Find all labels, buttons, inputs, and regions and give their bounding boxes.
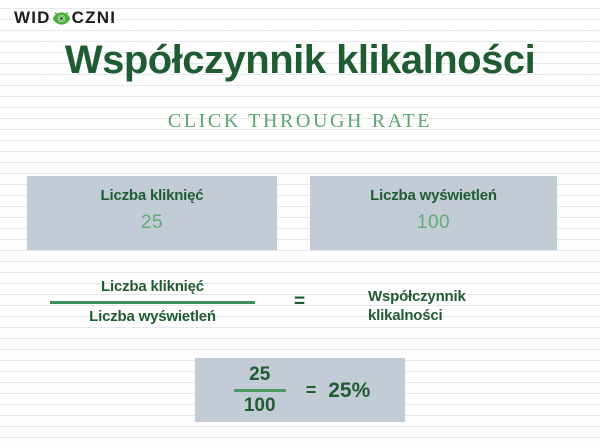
- formula-equals-sign: =: [294, 292, 305, 311]
- metric-label-clicks: Liczba kliknięć: [27, 187, 277, 205]
- formula-result-line2: klikalności: [368, 307, 548, 326]
- formula-fraction-bar: [50, 301, 255, 304]
- logo-text-before: WID: [14, 9, 51, 26]
- formula-denominator: Liczba wyświetleń: [50, 308, 255, 327]
- result-equals-sign: =: [306, 381, 317, 399]
- formula-result-line1: Współczynnik: [368, 288, 548, 307]
- page-subtitle: CLICK THROUGH RATE: [0, 110, 600, 132]
- metric-value-views: 100: [310, 212, 557, 235]
- formula-numerator: Liczba kliknięć: [50, 278, 255, 297]
- page-title: Współczynnik klikalności: [0, 38, 600, 82]
- metric-label-views: Liczba wyświetleń: [310, 187, 557, 205]
- brand-logo: WID CZNI: [14, 6, 116, 28]
- result-box: 25 100 = 25%: [195, 358, 405, 422]
- metric-box-clicks: Liczba kliknięć 25: [27, 176, 277, 250]
- formula-result-label: Współczynnik klikalności: [368, 288, 548, 326]
- formula-fraction: Liczba kliknięć Liczba wyświetleń: [50, 278, 255, 327]
- metric-value-clicks: 25: [27, 212, 277, 235]
- result-fraction: 25 100: [230, 364, 290, 417]
- infographic-canvas: WID CZNI Współczynnik klikalności CLICK …: [0, 0, 600, 448]
- result-fraction-bar: [234, 389, 286, 392]
- result-numerator: 25: [230, 364, 290, 386]
- green-eye-icon: [52, 9, 71, 28]
- result-percentage-value: 25%: [328, 380, 370, 401]
- result-denominator: 100: [230, 395, 290, 417]
- logo-text-after: CZNI: [72, 9, 116, 26]
- metric-box-views: Liczba wyświetleń 100: [310, 176, 557, 250]
